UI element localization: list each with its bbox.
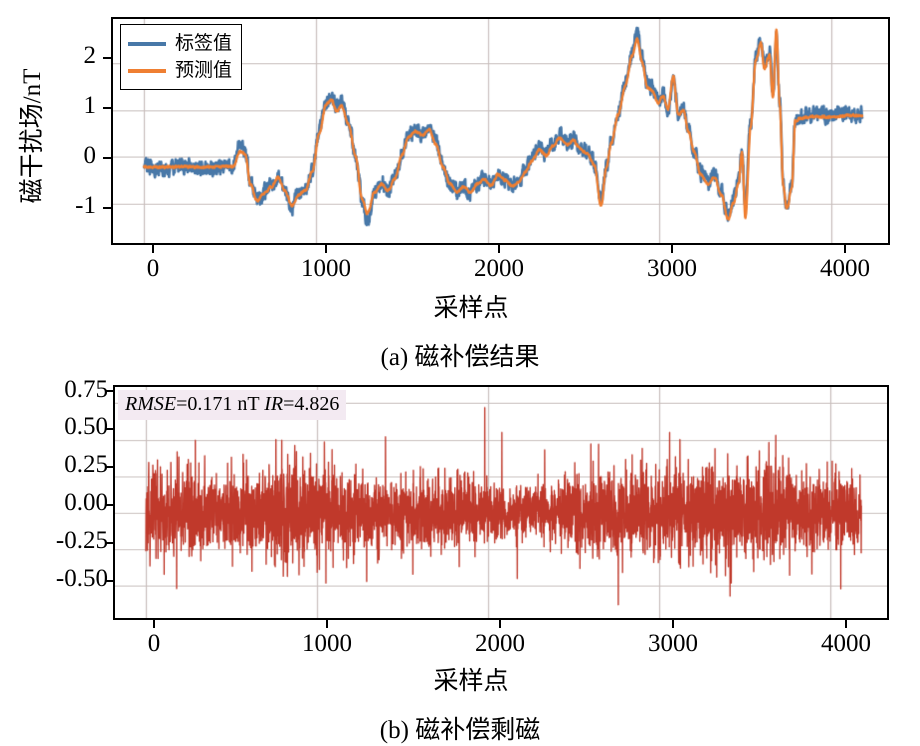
subplot-b-xtickmark-0: [153, 620, 155, 628]
subplot-b-xtick-4: 4000: [796, 630, 896, 658]
subplot-a-xtick-1: 1000: [276, 255, 376, 283]
subplot-a-legend[interactable]: 标签值 预测值: [120, 24, 242, 90]
legend-label-label-series: 标签值: [175, 34, 232, 53]
subplot-a-xtickmark-0: [152, 245, 154, 253]
ir-value: =4.826: [283, 393, 339, 415]
subplot-a-xtick-0: 0: [103, 255, 203, 283]
legend-item-prediction-series[interactable]: 预测值: [128, 57, 232, 84]
subplot-a-xtick-4: 4000: [795, 255, 895, 283]
subplot-b-xtickmark-3: [672, 620, 674, 628]
subplot-b-xtick-2: 2000: [450, 630, 550, 658]
subplot-a-xtickmark-1: [325, 245, 327, 253]
subplot-b-xtickmark-2: [499, 620, 501, 628]
subplot-b-metrics-annotation: RMSE=0.171 nT IR=4.826: [118, 390, 346, 420]
subplot-b-ytick-5: -0.50: [2, 565, 108, 593]
subplot-a-ytick-0: 2: [30, 42, 96, 70]
subplot-b-ytickmark-4: [105, 542, 113, 544]
ir-symbol: IR: [264, 393, 283, 415]
subplot-b-xtick-3: 3000: [623, 630, 723, 658]
subplot-b-xtick-0: 0: [104, 630, 204, 658]
subplot-a: 磁干扰场/nT 2 1 0 -1 标签值 预测值: [0, 0, 920, 375]
subplot-b-xtick-1: 1000: [277, 630, 377, 658]
subplot-a-xtick-2: 2000: [449, 255, 549, 283]
legend-item-label-series[interactable]: 标签值: [128, 30, 232, 57]
legend-label-prediction-series: 预测值: [175, 61, 232, 80]
subplot-b-plot-area: [113, 385, 889, 620]
legend-swatch-label-series: [128, 42, 166, 46]
subplot-a-ytick-1: 1: [30, 92, 96, 120]
subplot-b-ytick-1: 0.50: [12, 413, 108, 441]
subplot-a-xtickmark-2: [498, 245, 500, 253]
subplot-a-ytick-2: 0: [30, 142, 96, 170]
subplot-a-ytickmark-0: [103, 57, 111, 59]
subplot-b-ytick-3: 0.00: [12, 489, 108, 517]
subplot-a-ytickmark-1: [103, 107, 111, 109]
subplot-a-xlabel: 采样点: [401, 288, 541, 324]
subplot-b-xlabel: 采样点: [401, 661, 541, 697]
subplot-b-canvas: [115, 387, 887, 618]
subplot-b-xtickmark-4: [845, 620, 847, 628]
subplot-b-ytickmark-0: [105, 390, 113, 392]
subplot-a-xtickmark-3: [671, 245, 673, 253]
subplot-a-xtick-3: 3000: [622, 255, 722, 283]
subplot-b-ytick-4: -0.25: [2, 527, 108, 555]
rmse-symbol: RMSE: [125, 393, 176, 415]
subplot-b-ytickmark-5: [105, 580, 113, 582]
legend-swatch-prediction-series: [128, 69, 166, 73]
subplot-b-ytick-0: 0.75: [12, 376, 108, 404]
figure-root: 磁干扰场/nT 2 1 0 -1 标签值 预测值: [0, 0, 920, 743]
subplot-a-ytickmark-2: [103, 157, 111, 159]
subplot-a-xtickmark-4: [844, 245, 846, 253]
subplot-b-ytickmark-2: [105, 466, 113, 468]
subplot-b-caption: (b) 磁补偿剩磁: [0, 710, 920, 746]
subplot-b-ytickmark-1: [105, 428, 113, 430]
subplot-b: 0.75 0.50 0.25 0.00 -0.25 -0.50 RMSE=0.1…: [0, 378, 920, 743]
subplot-a-caption: (a) 磁补偿结果: [0, 337, 920, 373]
subplot-b-ytick-2: 0.25: [12, 451, 108, 479]
subplot-a-ytick-3: -1: [22, 192, 96, 220]
subplot-b-ytickmark-3: [105, 504, 113, 506]
rmse-value: =0.171 nT: [176, 393, 264, 415]
subplot-a-ytickmark-3: [103, 207, 111, 209]
subplot-b-xtickmark-1: [326, 620, 328, 628]
